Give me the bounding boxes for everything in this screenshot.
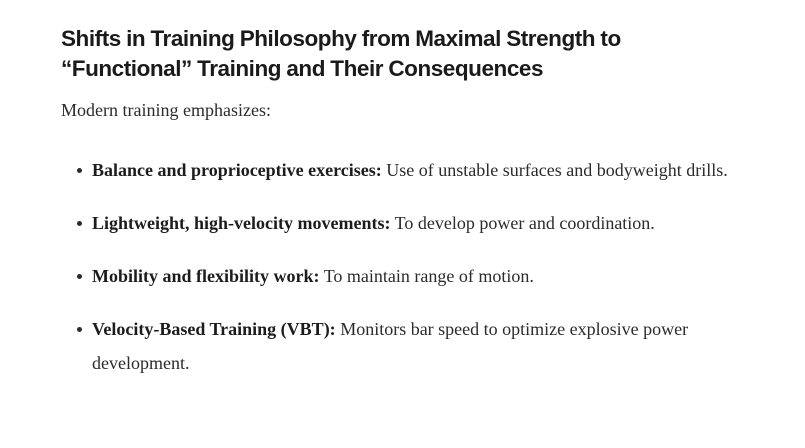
article-content: Shifts in Training Philosophy from Maxim… (61, 24, 761, 380)
list-item: Balance and proprioceptive exercises: Us… (61, 153, 752, 187)
list-item: Mobility and flexibility work: To mainta… (61, 259, 752, 293)
bullet-dot-icon (77, 206, 83, 240)
training-emphasis-list: Balance and proprioceptive exercises: Us… (61, 153, 761, 380)
list-item-lead: Mobility and flexibility work: (92, 266, 320, 286)
bullet-dot-icon (77, 259, 83, 293)
list-item-lead: Balance and proprioceptive exercises: (92, 160, 382, 180)
bullet-dot-icon (77, 153, 83, 187)
intro-paragraph: Modern training emphasizes: (61, 97, 761, 123)
list-item: Lightweight, high-velocity movements: To… (61, 206, 752, 240)
document-page: Shifts in Training Philosophy from Maxim… (0, 0, 805, 448)
list-item-text: To develop power and coordination. (390, 213, 654, 233)
list-item-text: To maintain range of motion. (320, 266, 534, 286)
list-item-text: Use of unstable surfaces and bodyweight … (382, 160, 728, 180)
list-item: Velocity-Based Training (VBT): Monitors … (61, 312, 752, 380)
list-item-lead: Lightweight, high-velocity movements: (92, 213, 390, 233)
bullet-dot-icon (77, 312, 83, 346)
page-title: Shifts in Training Philosophy from Maxim… (61, 24, 661, 84)
list-item-lead: Velocity-Based Training (VBT): (92, 319, 336, 339)
